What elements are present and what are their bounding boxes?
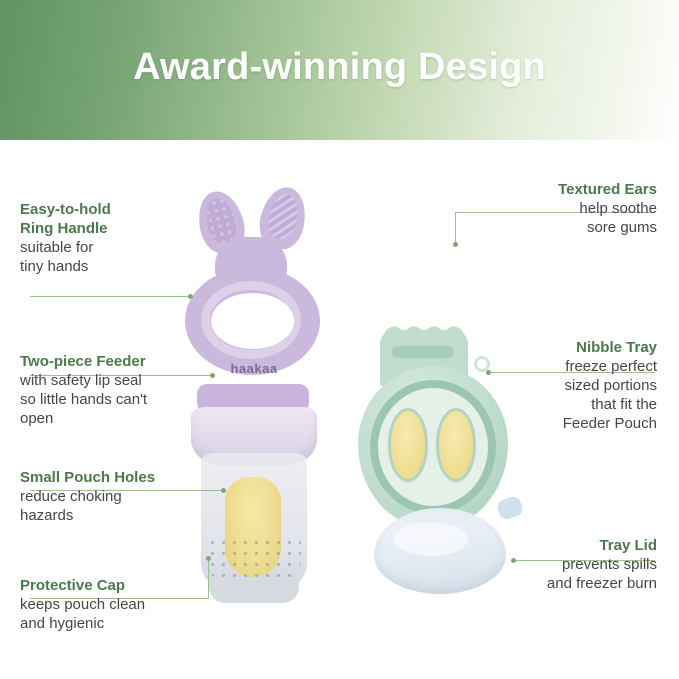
pouch-base: [209, 577, 299, 603]
callout-protective-cap-body-line2: and hygienic: [20, 614, 210, 633]
callout-small-pouch-holes: Small Pouch Holes reduce choking hazards: [20, 468, 220, 525]
callout-ring-handle-body-line1: suitable for: [20, 238, 195, 257]
callout-two-piece-feeder-title: Two-piece Feeder: [20, 352, 220, 371]
callout-nibble-tray-body-line3: that fit the: [457, 395, 657, 414]
callout-nibble-tray-body-line1: freeze perfect: [457, 357, 657, 376]
ear-inner-right: [265, 192, 302, 242]
callout-tray-lid-body-line1: prevents spills: [457, 555, 657, 574]
callout-ring-handle: Easy-to-hold Ring Handle suitable for ti…: [20, 200, 195, 276]
callout-textured-ears-body-line2: sore gums: [457, 218, 657, 237]
leader-dot-small-pouch-holes: [221, 488, 226, 493]
callout-two-piece-feeder: Two-piece Feeder with safety lip seal so…: [20, 352, 220, 428]
callout-textured-ears: Textured Ears help soothe sore gums: [457, 180, 657, 237]
product-feature-infographic: Award-winning Design haakaa: [0, 0, 679, 679]
callout-tray-lid-title: Tray Lid: [457, 536, 657, 555]
callout-textured-ears-title: Textured Ears: [457, 180, 657, 199]
callout-protective-cap-title: Protective Cap: [20, 576, 210, 595]
callout-two-piece-feeder-body-line1: with safety lip seal: [20, 371, 220, 390]
tray-portion-left: [388, 408, 428, 482]
tray-crown-slot: [392, 346, 454, 358]
tray-lid-tab: [495, 495, 524, 521]
ring-handle-highlight: [201, 281, 301, 359]
callout-nibble-tray: Nibble Tray freeze perfect sized portion…: [457, 338, 657, 433]
ear-zigzag-texture: [265, 192, 302, 242]
callout-nibble-tray-body-line2: sized portions: [457, 376, 657, 395]
callout-tray-lid-body-line2: and freezer burn: [457, 574, 657, 593]
leader-dot-protective-cap: [206, 556, 211, 561]
page-title: Award-winning Design: [0, 0, 679, 140]
callout-tray-lid: Tray Lid prevents spills and freezer bur…: [457, 536, 657, 593]
callout-protective-cap-body-line1: keeps pouch clean: [20, 595, 210, 614]
callout-ring-handle-title-line2: Ring Handle: [20, 219, 195, 238]
callout-ring-handle-title-line1: Easy-to-hold: [20, 200, 195, 219]
brand-logo: haakaa: [218, 361, 290, 376]
callout-two-piece-feeder-body-line2: so little hands can't: [20, 390, 220, 409]
leader-line-ring-handle: [30, 296, 190, 297]
callout-two-piece-feeder-body-line3: open: [20, 409, 220, 428]
callout-small-pouch-holes-title: Small Pouch Holes: [20, 468, 220, 487]
callout-ring-handle-body-line2: tiny hands: [20, 257, 195, 276]
callout-small-pouch-holes-body-line2: hazards: [20, 506, 220, 525]
callout-protective-cap: Protective Cap keeps pouch clean and hyg…: [20, 576, 210, 633]
callout-nibble-tray-body-line4: Feeder Pouch: [457, 414, 657, 433]
callout-nibble-tray-title: Nibble Tray: [457, 338, 657, 357]
callout-small-pouch-holes-body-line1: reduce choking: [20, 487, 220, 506]
leader-dot-ring-handle: [188, 294, 193, 299]
leader-dot-textured-ears: [453, 242, 458, 247]
leader-line-textured-ears-vertical: [455, 212, 456, 244]
header-banner: Award-winning Design: [0, 0, 679, 140]
callout-textured-ears-body-line1: help soothe: [457, 199, 657, 218]
